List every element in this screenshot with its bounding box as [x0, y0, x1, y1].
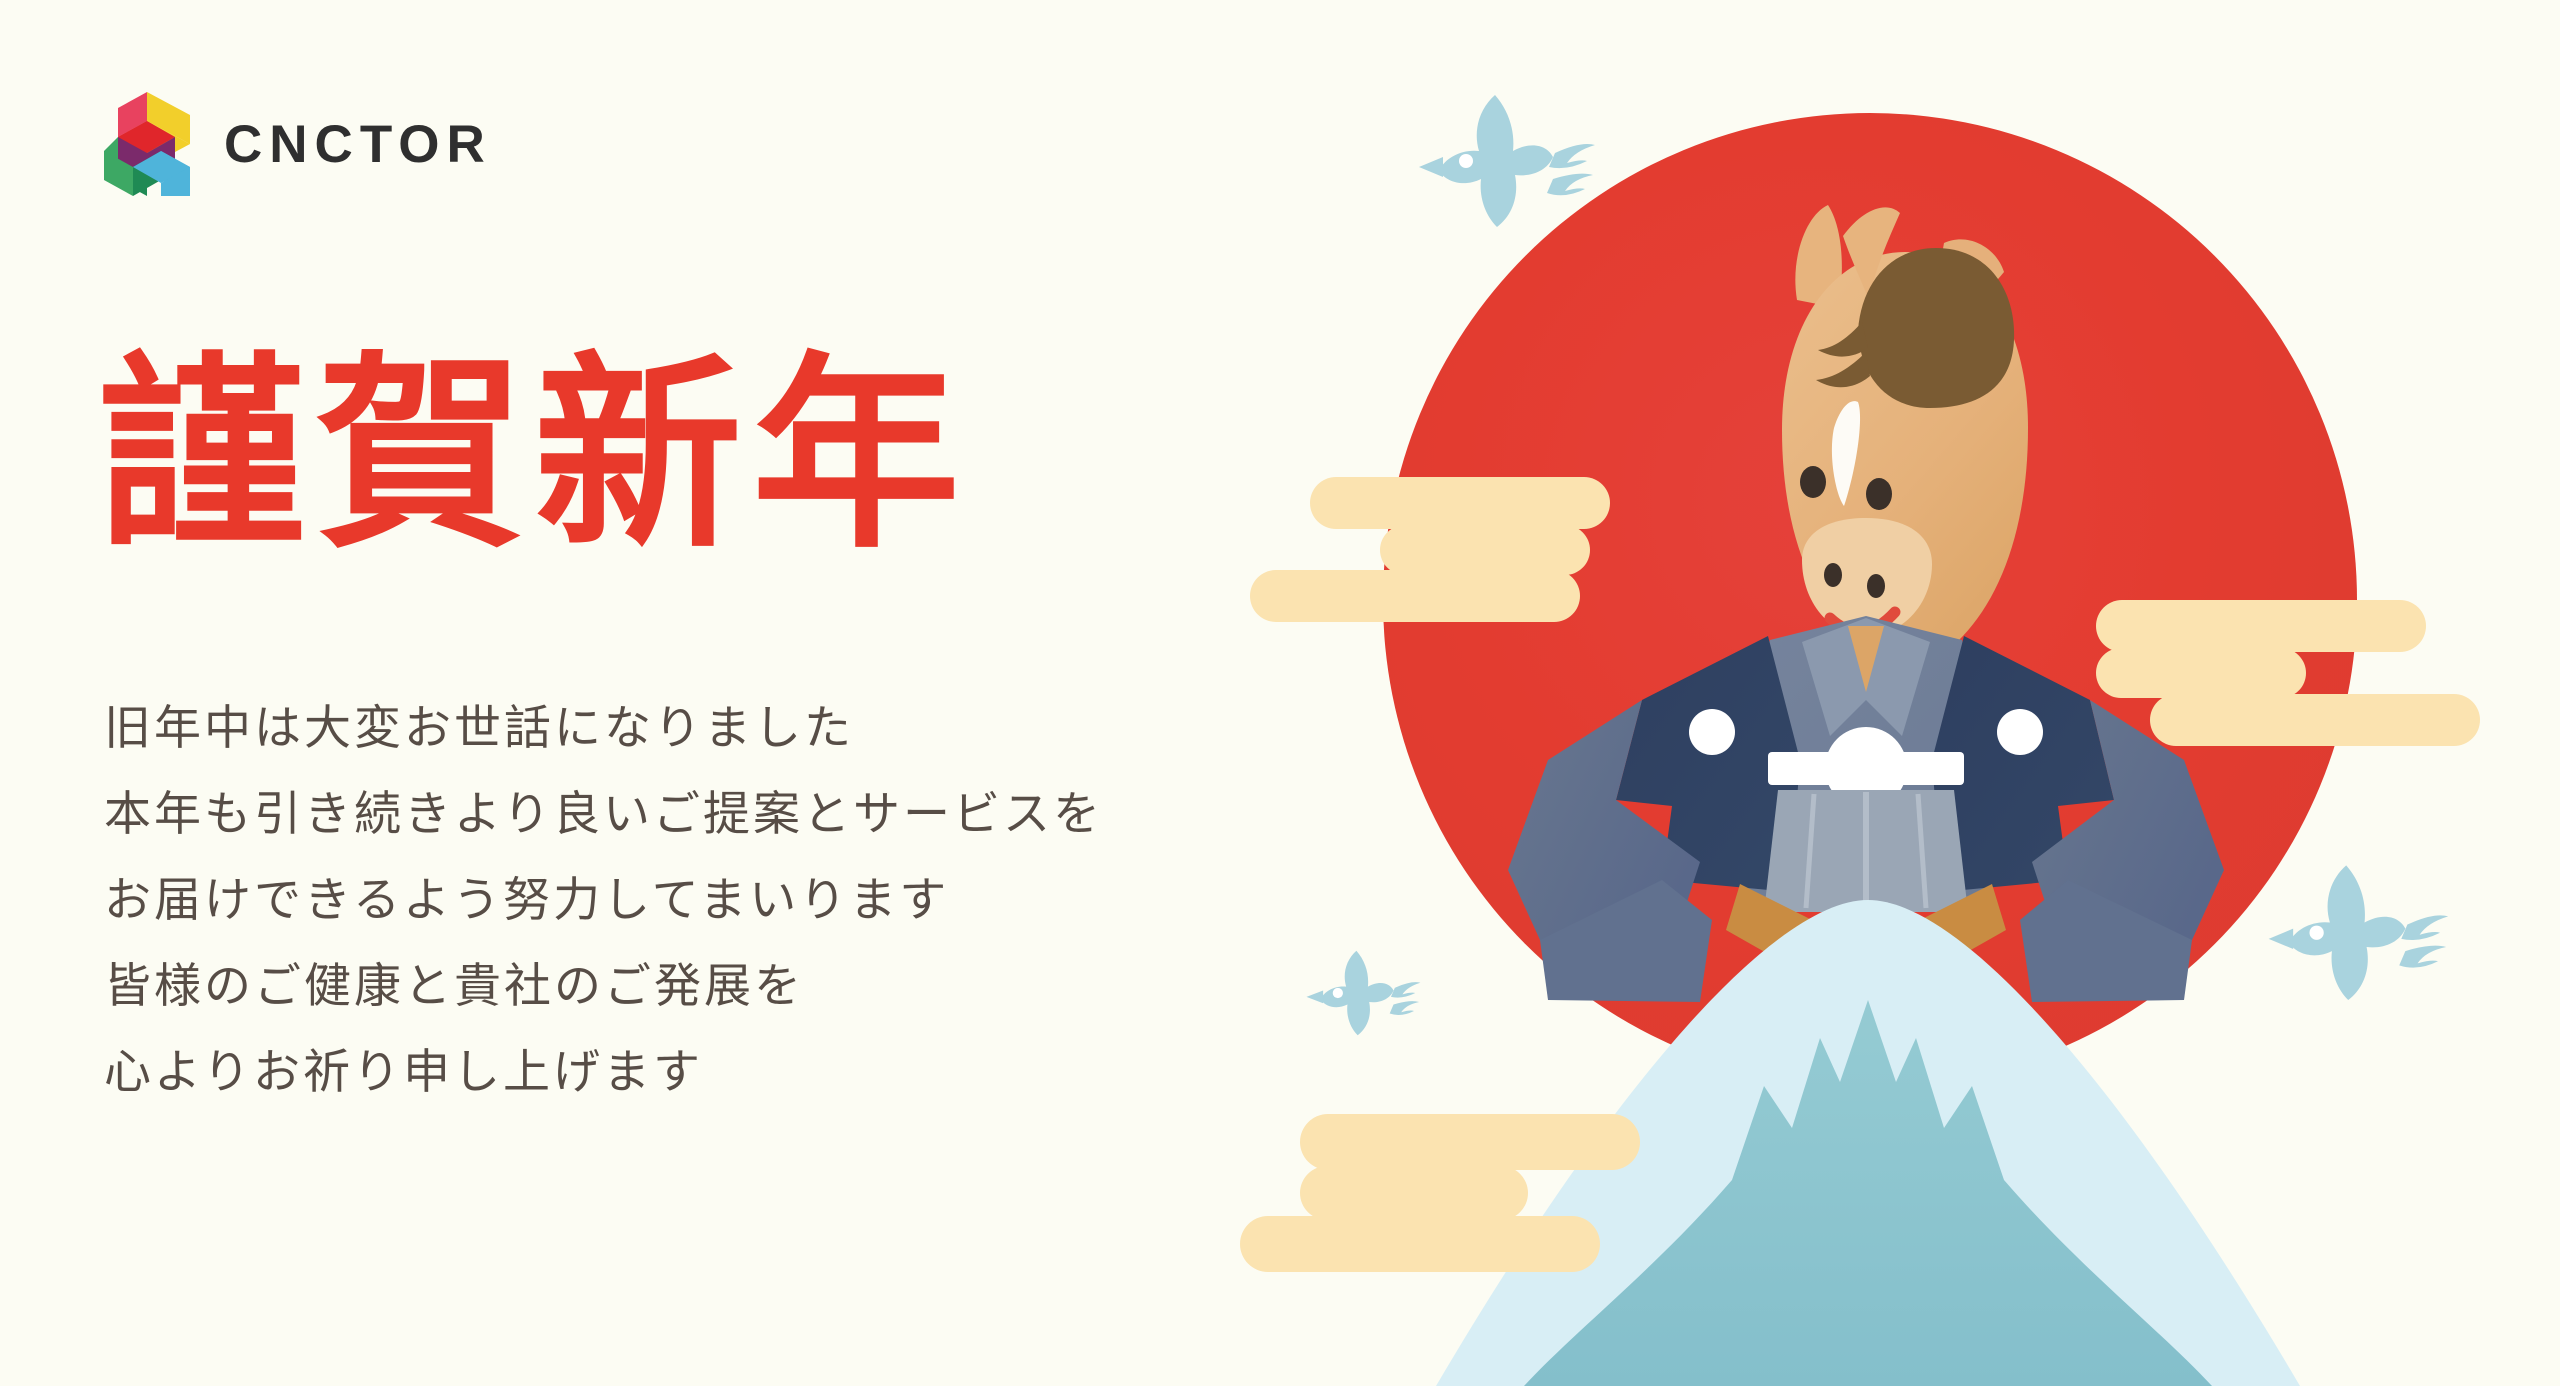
message-line-5: 心よりお祈り申し上げます [104, 1030, 1103, 1116]
obi-knot [1825, 727, 1907, 809]
message-line-3: お届けできるよう努力してまいります [104, 858, 1103, 944]
kimono-collar-right [1866, 618, 1930, 736]
horse-mane-strand-1 [1818, 322, 1868, 357]
horse-hoof-right [1896, 884, 2006, 972]
haori-sleeve-left [1508, 700, 1700, 948]
horse-nostril-right [1867, 574, 1885, 598]
message-line-2: 本年も引き続きより良いご提案とサービスを [104, 772, 1103, 858]
kimono-neck-gap [1848, 626, 1884, 692]
kasumi-cloud-left [1250, 477, 1610, 622]
fuji-outline [1456, 900, 2280, 1386]
horse-blaze [1832, 401, 1860, 506]
bird-tail-lower [1547, 174, 1593, 196]
horse-hoof-right-tip [1892, 940, 1952, 990]
horse-muzzle [1802, 518, 1932, 636]
mount-fuji [1436, 900, 2300, 1386]
bird-tail-lower [1390, 1001, 1419, 1015]
haori-hem-right [2020, 880, 2192, 1002]
brand-logo[interactable]: CNCTOR [104, 92, 492, 196]
red-sun-circle [1383, 113, 2357, 1087]
kimono-outfit [1508, 616, 2224, 1002]
message-line-1: 旧年中は大変お世話になりました [104, 686, 1103, 772]
bird-beak [1419, 157, 1443, 177]
horse-ear-right [1930, 239, 2004, 322]
bird-eye [2309, 926, 2323, 940]
horse-hoof-left-tip [1780, 940, 1840, 990]
bird-eye [1333, 988, 1343, 998]
bird-small-left [1306, 951, 1420, 1035]
horse-mane [1858, 248, 2014, 408]
new-year-greeting-card: CNCTOR 謹賀新年 旧年中は大変お世話になりました 本年も引き続きより良いご… [0, 0, 2560, 1386]
kasumi-clouds [1240, 477, 2480, 1272]
haori-sleeve-right [2032, 700, 2224, 948]
bird-tail-lower [2399, 946, 2446, 968]
hakama-pleat-right [1918, 794, 1926, 908]
hakama [1764, 790, 1968, 912]
haori-panel-right [1932, 636, 2114, 892]
horse-eye-left [1800, 466, 1826, 498]
bird-top [1419, 95, 1595, 227]
haori-panel-left [1616, 636, 1800, 892]
page-title: 謹賀新年 [98, 352, 970, 560]
horse-head [1782, 252, 2028, 661]
haori-hem-left [1540, 880, 1712, 1002]
bird-tail-upper [1391, 982, 1420, 997]
greeting-message: 旧年中は大変お世話になりました 本年も引き続きより良いご提案とサービスを お届け… [104, 686, 1103, 1116]
hexagon-cube-logo [104, 92, 190, 196]
bird-eye [1459, 154, 1473, 168]
fuji-body [1524, 1000, 2212, 1386]
hakama-pleat-left [1806, 794, 1814, 908]
horse-forelock-tuft [1843, 207, 1900, 300]
bird-right [2269, 865, 2449, 1000]
fuji-snow-base [1436, 900, 2300, 1386]
bird-beak [1306, 990, 1323, 1003]
haori-crest-right [1997, 709, 2043, 755]
bird-tail-upper [2401, 915, 2448, 940]
horse-eye-right [1866, 478, 1892, 510]
kimono-inner [1732, 616, 2000, 900]
kimono-collar-left [1802, 618, 1866, 736]
bird-tail-upper [1549, 144, 1595, 168]
horse-nostril-left [1824, 563, 1842, 587]
bird-beak [2269, 929, 2293, 949]
message-line-4: 皆様のご健康と貴社のご発展を [104, 944, 1103, 1030]
brand-wordmark: CNCTOR [224, 118, 492, 171]
horse-smile [1830, 612, 1895, 632]
horse-character [1782, 205, 2028, 661]
horse-hoof-left [1726, 884, 1836, 972]
obi-sash [1768, 752, 1964, 785]
kasumi-cloud-bottom [1240, 1114, 1640, 1272]
kasumi-cloud-right [2096, 600, 2480, 746]
horse-mane-strand-2 [1816, 352, 1870, 387]
birds [1306, 95, 2448, 1035]
haori-crest-left [1689, 709, 1735, 755]
horse-ear-left [1795, 205, 1842, 308]
